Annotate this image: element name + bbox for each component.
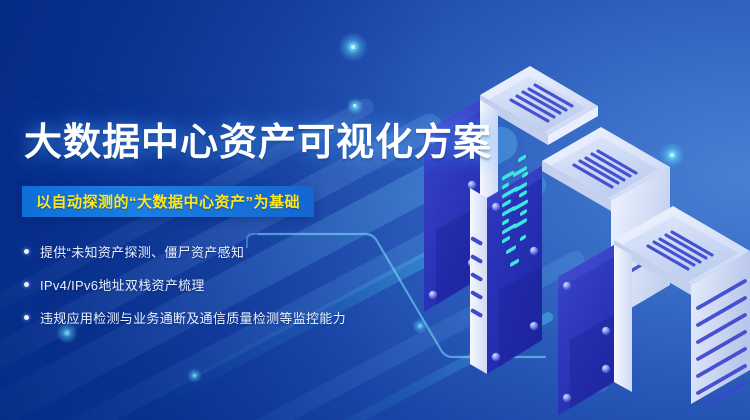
bullet-text: 提供“未知资产探测、僵尸资产感知 bbox=[40, 242, 244, 261]
subtitle-banner-text: 以自动探测的“大数据中心资产”为基础 bbox=[36, 191, 300, 212]
list-item: 提供“未知资产探测、僵尸资产感知 bbox=[24, 238, 424, 265]
bullet-dot-icon bbox=[24, 315, 29, 320]
bullet-text: 违规应用检测与业务通断及通信质量检测等监控能力 bbox=[40, 308, 346, 327]
isometric-server-racks-illustration bbox=[398, 40, 750, 420]
feature-bullet-list: 提供“未知资产探测、僵尸资产感知 IPv4/IPv6地址双栈资产梳理 违规应用检… bbox=[24, 238, 424, 332]
marketing-banner: 大数据中心资产可视化方案 以自动探测的“大数据中心资产”为基础 提供“未知资产探… bbox=[0, 0, 750, 420]
bullet-text: IPv4/IPv6地址双栈资产梳理 bbox=[40, 275, 205, 294]
list-item: IPv4/IPv6地址双栈资产梳理 bbox=[24, 271, 424, 298]
bullet-dot-icon bbox=[24, 282, 29, 287]
list-item: 违规应用检测与业务通断及通信质量检测等监控能力 bbox=[24, 304, 424, 331]
server-rack-right bbox=[558, 206, 750, 415]
subtitle-banner: 以自动探测的“大数据中心资产”为基础 bbox=[22, 186, 314, 217]
page-title: 大数据中心资产可视化方案 bbox=[24, 124, 444, 162]
bullet-dot-icon bbox=[24, 249, 29, 254]
copy-block: 大数据中心资产可视化方案 以自动探测的“大数据中心资产”为基础 提供“未知资产探… bbox=[0, 0, 430, 420]
